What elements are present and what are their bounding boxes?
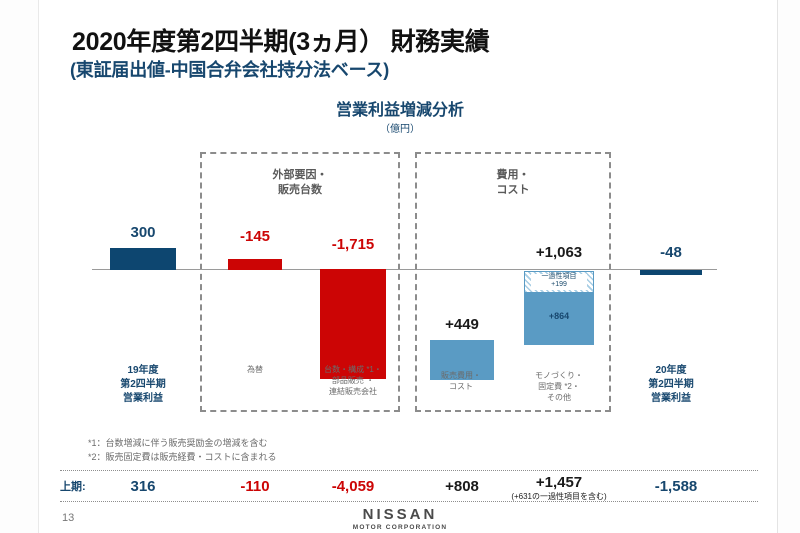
bar-label-line1: 為替: [247, 365, 263, 374]
summary-value-selling-expense-cost: +808: [428, 478, 496, 495]
bar-label-fy20-q2-operating-profit: 20年度 第2四半期 営業利益: [624, 364, 718, 406]
bar-label-volume-mix-parts: 台数・構成 *1・ 部品販売 ・ 連結販売会社: [306, 364, 400, 397]
bar-label-line2: 第2四半期: [648, 379, 694, 390]
segment-value-text: +199: [551, 281, 567, 288]
bar-label-line1: 販売費用・: [441, 371, 481, 380]
segment-label-text: 一過性項目: [542, 273, 577, 280]
bar-label-line2: 部品販売 ・: [332, 376, 374, 385]
footnote-1: *1：台数増減に伴う販売奨励金の増減を含む: [88, 436, 268, 449]
bar-label-monozukuri-fixed-cost: モノづくり・ 固定費 *2・ その他: [520, 370, 598, 403]
bar-label-line3: その他: [547, 393, 571, 402]
summary-value-monozukuri: +1,457: [516, 474, 602, 491]
bar-segment-one-time-items: 一過性項目 +199: [524, 271, 594, 293]
bar-label-selling-expense-cost: 販売費用・ コスト: [426, 370, 496, 392]
bar-currency-exchange: [228, 259, 282, 270]
bar-label-line3: 営業利益: [651, 393, 691, 404]
bar-value-volume-mix-parts: -1,715: [310, 236, 396, 253]
bar-label-line3: 営業利益: [123, 393, 163, 404]
bar-label-line1: 20年度: [655, 365, 686, 376]
bar-label-line2: 固定費 *2・: [538, 382, 580, 391]
zero-baseline: [92, 269, 717, 270]
bar-value-monozukuri-fixed-cost: +1,063: [516, 244, 602, 261]
summary-value-currency-exchange: -110: [222, 478, 288, 495]
logo-wordmark: NISSAN: [0, 506, 800, 523]
summary-value-volume-mix-parts: -4,059: [310, 478, 396, 495]
summary-top-rule: [60, 470, 758, 471]
bar-label-line1: モノづくり・: [535, 371, 583, 380]
bar-value-currency-exchange: -145: [222, 228, 288, 245]
group-label-line1: 費用・: [497, 169, 530, 181]
logo-tagline: MOTOR CORPORATION: [0, 524, 800, 531]
bar-label-currency-exchange: 為替: [222, 364, 288, 375]
summary-bottom-rule: [60, 501, 758, 502]
group-label-line2: コスト: [497, 184, 530, 196]
group-label-line1: 外部要因・: [273, 169, 328, 181]
nissan-logo: NISSAN MOTOR CORPORATION: [0, 506, 800, 531]
bar-segment-monozukuri-864: +864: [524, 293, 594, 345]
group-label-expenses-cost: 費用・ コスト: [415, 168, 611, 198]
bar-label-line3: 連結販売会社: [329, 387, 377, 396]
bar-volume-mix-parts: [320, 269, 386, 379]
bar-value-fy19-q2-operating-profit: 300: [110, 224, 176, 241]
bar-label-line2: 第2四半期: [120, 379, 166, 390]
segment-value-864: +864: [524, 311, 594, 321]
summary-value-fy19-h1: 316: [110, 478, 176, 495]
bar-fy20-q2-operating-profit: [640, 270, 702, 275]
bar-value-selling-expense-cost: +449: [428, 316, 496, 333]
group-label-line2: 販売台数: [278, 184, 322, 196]
summary-value-fy20-h1: -1,588: [638, 478, 714, 495]
bar-label-line1: 19年度: [127, 365, 158, 376]
summary-note-monozukuri: (+631の一過性項目を含む): [491, 491, 627, 502]
slide: 2020年度第2四半期(3ヵ月） 財務実績 (東証届出値-中国合弁会社持分法ベー…: [0, 0, 800, 533]
bar-label-line1: 台数・構成 *1・: [324, 365, 382, 374]
summary-row: 316 -110 -4,059 +808 +1,457 (+631の一過性項目を…: [0, 474, 800, 500]
group-label-external-factors: 外部要因・ 販売台数: [200, 168, 400, 198]
segment-label-one-time-items: 一過性項目 +199: [525, 273, 593, 289]
bar-fy19-q2-operating-profit: [110, 248, 176, 270]
bar-label-line2: コスト: [449, 382, 473, 391]
bar-label-fy19-q2-operating-profit: 19年度 第2四半期 営業利益: [96, 364, 190, 406]
footnote-2: *2：販売固定費は販売経費・コストに含まれる: [88, 450, 277, 463]
bar-value-fy20-q2-operating-profit: -48: [638, 244, 704, 261]
